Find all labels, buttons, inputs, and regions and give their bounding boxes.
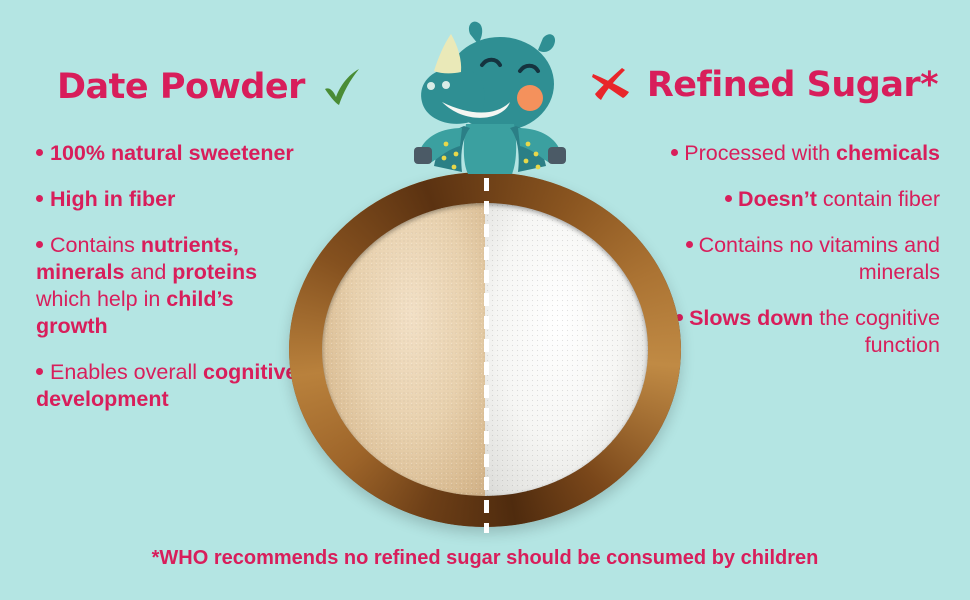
center-dashed-divider <box>484 155 489 533</box>
bullet-text-run: contain fiber <box>817 187 940 211</box>
cross-icon <box>589 64 633 106</box>
bullet-text-run: the cognitive function <box>813 306 940 357</box>
left-title-text: Date Powder <box>57 67 305 107</box>
bullet-text-run: proteins <box>172 260 257 284</box>
date-powder-benefits-list: 100% natural sweetenerHigh in fiberConta… <box>36 140 298 413</box>
bullet-dot-icon <box>36 149 43 156</box>
bullet-dot-icon <box>671 149 678 156</box>
right-column-heading: Refined Sugar* <box>589 64 938 106</box>
left-column-heading: Date Powder <box>57 64 365 110</box>
date-powder-texture <box>322 203 485 496</box>
bullet-text-run: Doesn’t <box>738 187 817 211</box>
bullet-text-run: Contains no vitamins and minerals <box>699 233 940 284</box>
bullet-text-run: chemicals <box>836 141 940 165</box>
bullet-dot-icon <box>36 195 43 202</box>
date-powder-bullet-item: Contains nutrients, minerals and protein… <box>36 232 298 340</box>
bullet-text-run: which help in <box>36 287 166 311</box>
bullet-text-run: 100% natural sweetener <box>50 141 294 165</box>
who-disclaimer: *WHO recommends no refined sugar should … <box>0 547 970 570</box>
date-powder-bullet-item: Enables overall cognitive development <box>36 359 298 413</box>
sugar-crystal-texture <box>485 203 648 496</box>
bullet-text-run: High in fiber <box>50 187 175 211</box>
refined-sugar-bullet-item: Contains no vitamins and minerals <box>640 232 940 286</box>
infographic-canvas: Date Powder Refined Sugar* 100% natural … <box>0 0 970 600</box>
bullet-dot-icon <box>36 241 43 248</box>
refined-sugar-bullet-item: Processed with chemicals <box>640 140 940 167</box>
bullet-text-run: Processed with <box>684 141 836 165</box>
bullet-dot-icon <box>686 241 693 248</box>
bullet-dot-icon <box>36 368 43 375</box>
bullet-text-run: and <box>124 260 172 284</box>
refined-sugar-drawbacks-list: Processed with chemicalsDoesn’t contain … <box>640 140 940 359</box>
bullet-text-run: Enables overall <box>50 360 203 384</box>
refined-sugar-half <box>485 203 648 496</box>
date-powder-half <box>322 203 485 496</box>
right-title-text: Refined Sugar* <box>647 65 938 105</box>
check-icon <box>319 64 365 110</box>
bullet-dot-icon <box>725 195 732 202</box>
refined-sugar-bullet-item: Slows down the cognitive function <box>640 305 940 359</box>
date-powder-bullet-item: High in fiber <box>36 186 298 213</box>
refined-sugar-bullet-item: Doesn’t contain fiber <box>640 186 940 213</box>
rhino-mascot <box>404 16 570 176</box>
bullet-text-run: Contains <box>50 233 141 257</box>
bullet-text-run: Slows down <box>689 306 813 330</box>
date-powder-bullet-item: 100% natural sweetener <box>36 140 298 167</box>
